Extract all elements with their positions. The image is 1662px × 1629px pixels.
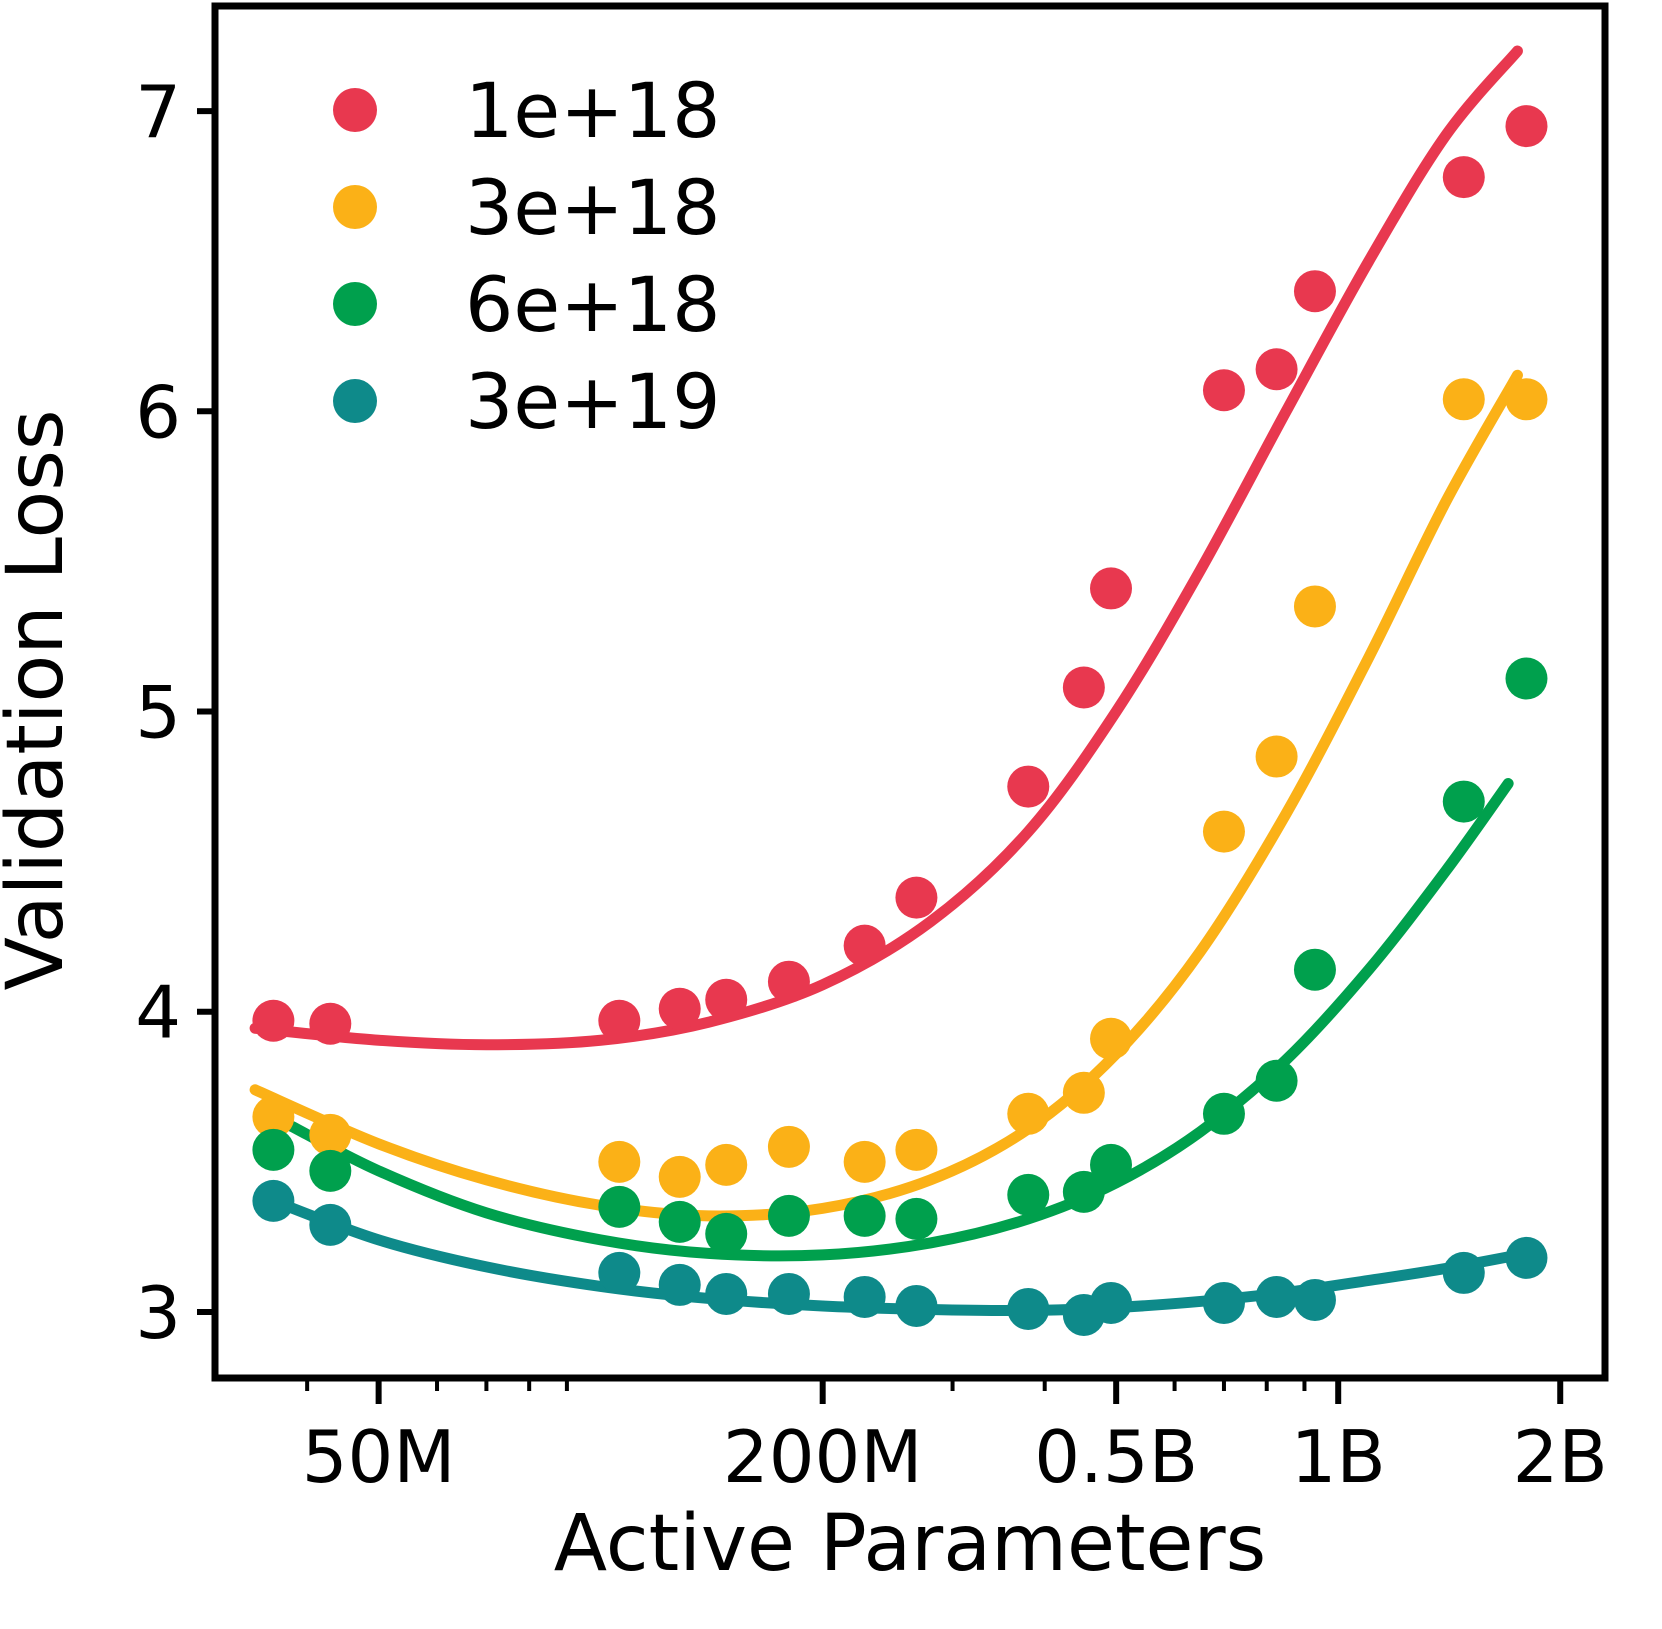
data-point (598, 1141, 640, 1183)
data-point (844, 1276, 886, 1318)
data-point (598, 1000, 640, 1042)
legend-marker-icon (333, 185, 377, 229)
x-tick-label: 200M (723, 1415, 923, 1499)
data-point (1256, 736, 1298, 778)
data-point (1090, 1144, 1132, 1186)
data-point (1090, 567, 1132, 609)
data-point (1443, 378, 1485, 420)
y-tick-label: 4 (135, 971, 181, 1055)
data-point (309, 1114, 351, 1156)
data-point (1203, 1282, 1245, 1324)
data-point (705, 1273, 747, 1315)
data-point (1203, 811, 1245, 853)
legend-label: 1e+18 (465, 66, 721, 155)
data-point (895, 1285, 937, 1327)
data-point (252, 1000, 294, 1042)
legend-label: 6e+18 (465, 260, 721, 349)
data-point (1007, 766, 1049, 808)
legend-label: 3e+18 (465, 163, 721, 252)
data-point (1505, 378, 1547, 420)
data-point (895, 1129, 937, 1171)
data-point (895, 877, 937, 919)
data-point (895, 1198, 937, 1240)
data-point (598, 1252, 640, 1294)
figure-container: 50M200M0.5B1B2B 34567 Active Parameters … (0, 0, 1662, 1629)
data-point (844, 925, 886, 967)
data-point (768, 1126, 810, 1168)
data-point (1294, 270, 1336, 312)
data-point (1294, 1279, 1336, 1321)
data-point (768, 1195, 810, 1237)
x-tick-label: 1B (1291, 1415, 1386, 1499)
y-tick-label: 6 (135, 370, 181, 454)
data-point (1505, 657, 1547, 699)
data-point (598, 1186, 640, 1228)
data-point (309, 1150, 351, 1192)
data-point (1007, 1174, 1049, 1216)
data-point (844, 1195, 886, 1237)
data-point (1007, 1288, 1049, 1330)
x-tick-label: 0.5B (1034, 1415, 1198, 1499)
data-point (1063, 667, 1105, 709)
legend-marker-icon (333, 379, 377, 423)
x-tick-label: 2B (1513, 1415, 1608, 1499)
y-axis-title: Validation Loss (0, 409, 81, 990)
x-axis-title: Active Parameters (554, 1499, 1267, 1589)
data-point (659, 1156, 701, 1198)
data-point (1505, 105, 1547, 147)
data-point (1443, 1252, 1485, 1294)
data-point (252, 1129, 294, 1171)
data-point (659, 1264, 701, 1306)
data-point (1505, 1237, 1547, 1279)
data-point (1294, 949, 1336, 991)
data-point (844, 1141, 886, 1183)
data-point (1203, 369, 1245, 411)
data-point (768, 1273, 810, 1315)
x-tick-label: 50M (302, 1415, 456, 1499)
y-tick-label: 7 (135, 70, 181, 154)
data-point (705, 979, 747, 1021)
data-point (309, 1003, 351, 1045)
data-point (1256, 1060, 1298, 1102)
y-tick-label: 3 (135, 1271, 181, 1355)
data-point (705, 1144, 747, 1186)
data-point (1007, 1093, 1049, 1135)
data-point (768, 961, 810, 1003)
y-tick-label: 5 (135, 671, 181, 755)
data-point (705, 1213, 747, 1255)
data-point (1203, 1093, 1245, 1135)
data-point (1090, 1018, 1132, 1060)
data-point (1443, 781, 1485, 823)
data-point (1256, 348, 1298, 390)
data-point (1443, 156, 1485, 198)
legend-label: 3e+19 (465, 357, 721, 446)
legend-marker-icon (333, 88, 377, 132)
data-point (252, 1180, 294, 1222)
data-point (1294, 585, 1336, 627)
data-point (659, 1201, 701, 1243)
data-point (1256, 1276, 1298, 1318)
data-point (1090, 1282, 1132, 1324)
scaling-law-scatter-chart: 50M200M0.5B1B2B 34567 Active Parameters … (0, 0, 1662, 1629)
legend-marker-icon (333, 282, 377, 326)
data-point (309, 1204, 351, 1246)
data-point (1063, 1072, 1105, 1114)
data-point (659, 988, 701, 1030)
